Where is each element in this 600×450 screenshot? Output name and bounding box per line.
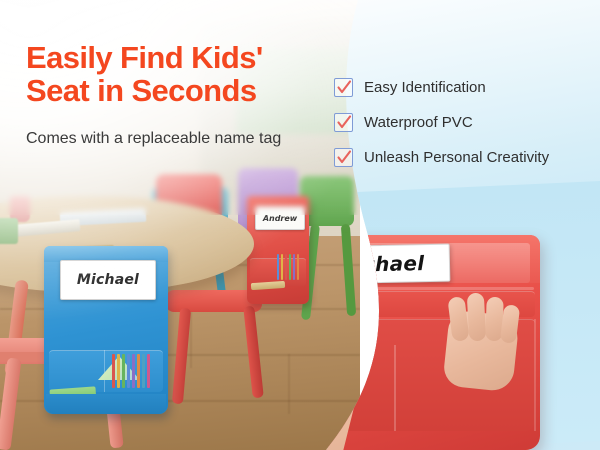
- name-tag-michael: Michael: [60, 260, 156, 300]
- supplies-pencils: [112, 354, 156, 388]
- chair-organizer-red: Andrew: [247, 196, 309, 304]
- headline-line-2: Seat in Seconds: [26, 75, 326, 108]
- headline-line-1: Easily Find Kids': [26, 40, 263, 75]
- organizer-side-seam: [534, 319, 536, 431]
- feature-list: Easy Identification Waterproof PVC Unlea…: [334, 76, 549, 181]
- page-subtitle: Comes with a replaceable name tag: [26, 128, 296, 149]
- feature-item-2: Waterproof PVC: [334, 111, 549, 133]
- feature-item-3: Unleash Personal Creativity: [334, 146, 549, 168]
- hand-right-finger: [467, 293, 486, 342]
- checkbox-checked-icon: [334, 148, 353, 167]
- product-banner: Andrew Michael: [0, 0, 600, 450]
- checkbox-checked-icon: [334, 113, 353, 132]
- checkbox-checked-icon: [334, 78, 353, 97]
- feature-label: Easy Identification: [364, 79, 486, 96]
- feature-label: Unleash Personal Creativity: [364, 149, 549, 166]
- organizer-pocket-divider: [104, 350, 105, 392]
- chair-organizer-blue: Michael: [44, 246, 168, 414]
- table-caddy: [0, 218, 18, 244]
- name-tag-andrew: Andrew: [255, 206, 305, 230]
- organizer-base: [46, 394, 166, 414]
- page-title: Easily Find Kids' Seat in Seconds: [26, 42, 326, 108]
- supplies-pencils: [277, 254, 303, 280]
- name-tag-andrew-text: Andrew: [263, 214, 297, 223]
- feature-label: Waterproof PVC: [364, 114, 473, 131]
- supplies-ruler: [251, 281, 285, 290]
- feature-item-1: Easy Identification: [334, 76, 549, 98]
- organizer-pocket-divider: [394, 345, 396, 431]
- name-tag-michael-text: Michael: [77, 272, 139, 288]
